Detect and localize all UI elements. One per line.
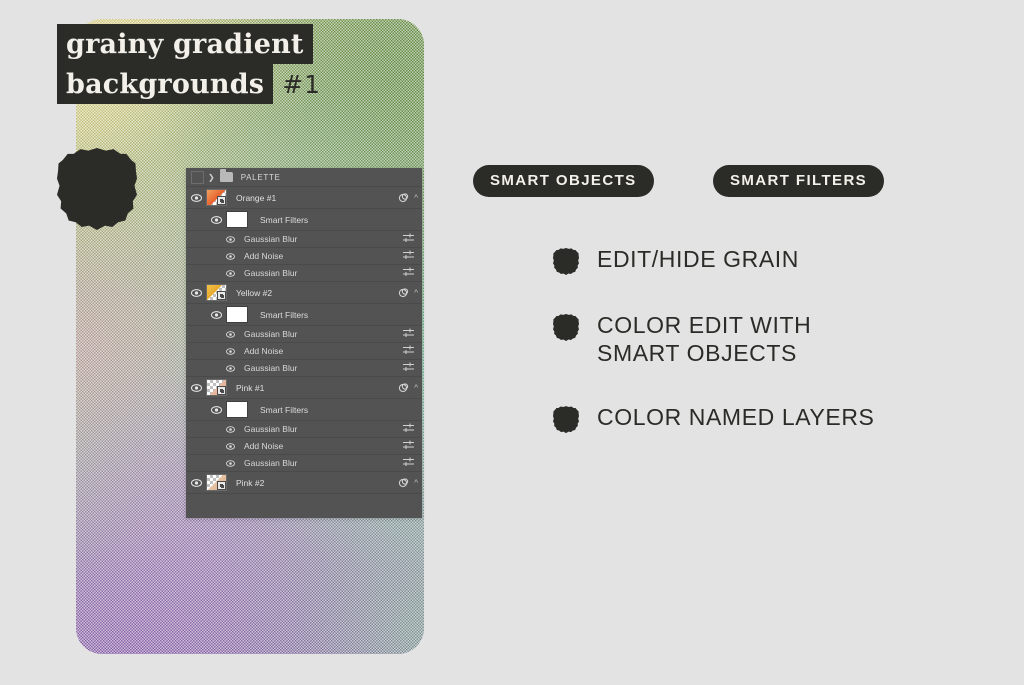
layer-row-actions[interactable]: ^	[398, 192, 418, 203]
layer-thumbnail[interactable]	[206, 474, 227, 491]
filter-name: Gaussian Blur	[244, 363, 297, 373]
title-line-1: grainy gradient	[57, 24, 313, 64]
layer-group-palette[interactable]: ❯ PALETTE	[186, 168, 422, 187]
smart-object-badge-icon	[217, 291, 226, 300]
layer-row[interactable]: Pink #2 ^	[186, 472, 422, 494]
photoshop-layers-panel[interactable]: ❯ PALETTE Orange #1 ^ Smart Filters Gaus…	[186, 168, 422, 518]
eye-icon[interactable]	[206, 216, 226, 224]
filter-name: Gaussian Blur	[244, 234, 297, 244]
title-row-2: backgrounds #1	[57, 64, 321, 104]
eye-icon[interactable]	[226, 253, 240, 260]
layer-row-actions[interactable]: ^	[398, 382, 418, 393]
eye-icon[interactable]	[226, 331, 240, 338]
eye-icon[interactable]	[226, 443, 240, 450]
filter-name: Add Noise	[244, 441, 283, 451]
bullet-blob-icon	[553, 248, 579, 275]
eye-icon[interactable]	[186, 289, 206, 297]
eye-icon[interactable]	[226, 348, 240, 355]
smart-object-badge-icon	[217, 196, 226, 205]
bullet-blob-icon	[553, 314, 579, 341]
group-checkbox[interactable]	[191, 171, 204, 184]
layer-row-actions[interactable]: ^	[398, 477, 418, 488]
eye-icon[interactable]	[226, 426, 240, 433]
filter-row[interactable]: Gaussian Blur	[186, 360, 422, 377]
title-line-2: backgrounds	[57, 64, 273, 104]
eye-icon[interactable]	[186, 194, 206, 202]
title-block: grainy gradient backgrounds #1	[57, 24, 321, 104]
filter-mask-thumbnail[interactable]	[226, 211, 248, 228]
layer-row-actions[interactable]: ^	[398, 287, 418, 298]
layer-name: Yellow #2	[236, 288, 272, 298]
smart-object-badge-icon	[217, 481, 226, 490]
title-number: #1	[273, 72, 321, 104]
filter-row[interactable]: Add Noise	[186, 248, 422, 265]
feature-text: COLOR NAMED LAYERS	[597, 403, 875, 431]
eye-icon[interactable]	[226, 236, 240, 243]
layer-row[interactable]: Yellow #2 ^	[186, 282, 422, 304]
eye-icon[interactable]	[226, 270, 240, 277]
smart-filter-icon[interactable]	[398, 477, 409, 488]
filter-name: Gaussian Blur	[244, 424, 297, 434]
chevron-up-icon[interactable]: ^	[414, 193, 418, 202]
filter-mask-thumbnail[interactable]	[226, 306, 248, 323]
layer-row[interactable]: Orange #1 ^	[186, 187, 422, 209]
filter-row[interactable]: Gaussian Blur	[186, 421, 422, 438]
bullet-blob-icon	[553, 406, 579, 433]
filter-name: Gaussian Blur	[244, 458, 297, 468]
badge-smart-objects: SMART OBJECTS	[473, 165, 654, 197]
chevron-up-icon[interactable]: ^	[414, 478, 418, 487]
feature-text: EDIT/HIDE GRAIN	[597, 245, 799, 273]
smart-filters-row[interactable]: Smart Filters	[186, 209, 422, 231]
layer-thumbnail[interactable]	[206, 284, 227, 301]
filter-settings-icon[interactable]	[403, 268, 414, 279]
layer-name: Orange #1	[236, 193, 276, 203]
feature-item: COLOR NAMED LAYERS	[553, 403, 983, 433]
layer-name: Pink #2	[236, 478, 264, 488]
filter-settings-icon[interactable]	[403, 329, 414, 340]
scalloped-blob-icon	[57, 148, 137, 230]
layer-thumbnail[interactable]	[206, 189, 227, 206]
filter-row[interactable]: Gaussian Blur	[186, 265, 422, 282]
eye-icon[interactable]	[186, 479, 206, 487]
feature-list: EDIT/HIDE GRAIN COLOR EDIT WITH SMART OB…	[553, 245, 983, 469]
eye-icon[interactable]	[206, 311, 226, 319]
eye-icon[interactable]	[206, 406, 226, 414]
filter-row[interactable]: Gaussian Blur	[186, 231, 422, 248]
filter-settings-icon[interactable]	[403, 234, 414, 245]
badge-smart-filters: SMART FILTERS	[713, 165, 884, 197]
filter-row[interactable]: Gaussian Blur	[186, 455, 422, 472]
feature-text: COLOR EDIT WITH SMART OBJECTS	[597, 311, 811, 367]
eye-icon[interactable]	[226, 365, 240, 372]
layer-thumbnail[interactable]	[206, 379, 227, 396]
chevron-up-icon[interactable]: ^	[414, 288, 418, 297]
smart-filters-label: Smart Filters	[260, 215, 308, 225]
folder-icon	[220, 172, 233, 182]
chevron-up-icon[interactable]: ^	[414, 383, 418, 392]
smart-filter-icon[interactable]	[398, 192, 409, 203]
filter-settings-icon[interactable]	[403, 458, 414, 469]
feature-line: EDIT/HIDE GRAIN	[597, 245, 799, 273]
filter-name: Add Noise	[244, 251, 283, 261]
filter-mask-thumbnail[interactable]	[226, 401, 248, 418]
feature-line: COLOR EDIT WITH	[597, 311, 811, 339]
filter-settings-icon[interactable]	[403, 441, 414, 452]
smart-filter-icon[interactable]	[398, 382, 409, 393]
filter-row[interactable]: Add Noise	[186, 438, 422, 455]
smart-filters-label: Smart Filters	[260, 310, 308, 320]
chevron-right-icon[interactable]: ❯	[208, 173, 215, 182]
filter-settings-icon[interactable]	[403, 363, 414, 374]
smart-filters-label: Smart Filters	[260, 405, 308, 415]
smart-filters-row[interactable]: Smart Filters	[186, 304, 422, 326]
filter-row[interactable]: Add Noise	[186, 343, 422, 360]
smart-filters-row[interactable]: Smart Filters	[186, 399, 422, 421]
filter-settings-icon[interactable]	[403, 424, 414, 435]
eye-icon[interactable]	[226, 460, 240, 467]
feature-line: SMART OBJECTS	[597, 339, 811, 367]
feature-item: COLOR EDIT WITH SMART OBJECTS	[553, 311, 983, 367]
smart-filter-icon[interactable]	[398, 287, 409, 298]
smart-object-badge-icon	[217, 386, 226, 395]
filter-settings-icon[interactable]	[403, 346, 414, 357]
eye-icon[interactable]	[186, 384, 206, 392]
filter-row[interactable]: Gaussian Blur	[186, 326, 422, 343]
feature-line: COLOR NAMED LAYERS	[597, 403, 875, 431]
feature-item: EDIT/HIDE GRAIN	[553, 245, 983, 275]
layer-row[interactable]: Pink #1 ^	[186, 377, 422, 399]
layer-name: Pink #1	[236, 383, 264, 393]
group-label: PALETTE	[241, 173, 281, 182]
filter-name: Add Noise	[244, 346, 283, 356]
filter-name: Gaussian Blur	[244, 329, 297, 339]
filter-settings-icon[interactable]	[403, 251, 414, 262]
filter-name: Gaussian Blur	[244, 268, 297, 278]
